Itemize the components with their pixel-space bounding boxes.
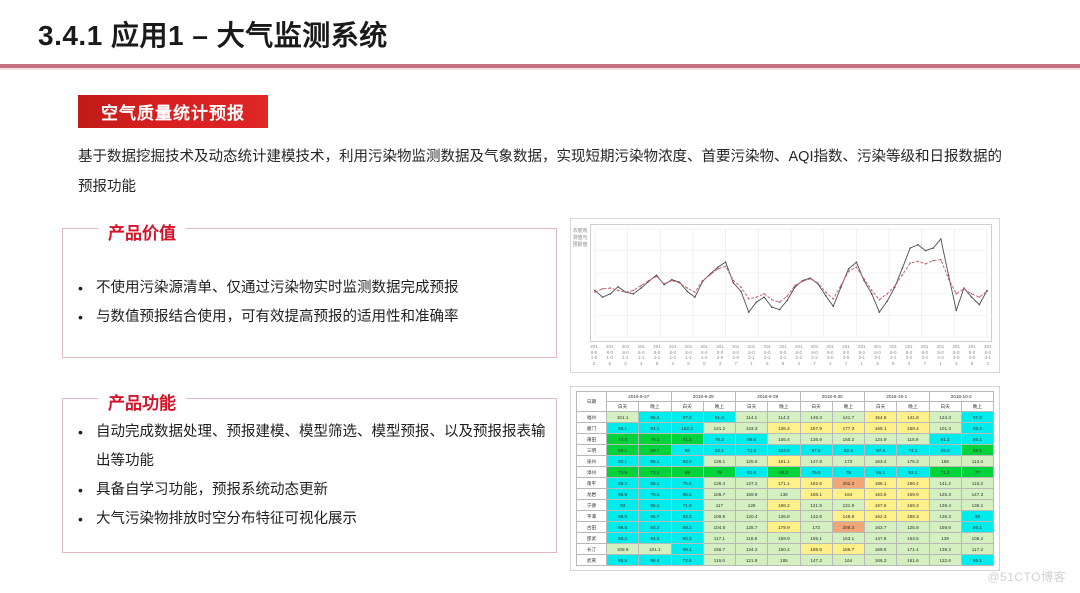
table-cell: 86.2 (671, 489, 703, 500)
table-cell: 142.6 (800, 511, 832, 522)
table-subcolumn-header: 晚上 (832, 402, 864, 412)
forecast-table: 日期2018-9-272018-9-282018-9-292018-9-3020… (576, 391, 994, 566)
chart-x-tick: 2018-04-08 (968, 344, 976, 372)
table-cell: 98.1 (671, 544, 703, 555)
table-cell: 68.2 (768, 467, 800, 478)
list-item: • 与数值预报结合使用，可有效提高预报的适用性和准确率 (78, 303, 548, 332)
table-cell: 92.1 (703, 445, 735, 456)
table-row-city: 厦门 (577, 423, 607, 434)
table-subcolumn-header: 白天 (671, 402, 703, 412)
table-cell: 108.8 (703, 511, 735, 522)
title-divider-soft (0, 68, 1080, 70)
table-cell: 147.2 (800, 555, 832, 566)
table-row: 平潭98.595.792.3108.8120.4136.8142.6148.81… (577, 511, 994, 522)
table-cell: 71.3 (671, 434, 703, 445)
table-cell: 117 (703, 500, 735, 511)
table-cell: 60.1 (607, 445, 639, 456)
table-head: 日期2018-9-272018-9-282018-9-292018-9-3020… (577, 392, 994, 412)
list-item: • 自动完成数据处理、预报建模、模型筛选、模型预报、以及预报报表输出等功能 (78, 418, 548, 476)
table-cell: 139.4 (929, 500, 961, 511)
table-cell: 208.3 (832, 522, 864, 533)
chart-x-tick: 2018-03-31 (937, 344, 945, 372)
table-corner-label: 日期 (577, 392, 607, 412)
chart-x-tick: 2018-03-23 (905, 344, 913, 372)
table-cell: 188.3 (897, 511, 929, 522)
table-cell: 86.6 (736, 434, 768, 445)
table-cell: 171.1 (768, 478, 800, 489)
table-cell: 102.2 (671, 423, 703, 434)
table-cell: 150.4 (768, 544, 800, 555)
panel-product-value-bullets: • 不使用污染源清单、仅通过污染物实时监测数据完成预报 • 与数值预报结合使用，… (78, 274, 548, 332)
table-header-dates: 日期2018-9-272018-9-282018-9-292018-9-3020… (577, 392, 994, 402)
table-cell: 147.3 (961, 489, 993, 500)
list-item: • 大气污染物排放时空分布特征可视化展示 (78, 505, 548, 534)
table-cell: 131.9 (832, 500, 864, 511)
chart-x-tick: 2018-03-19 (889, 344, 897, 372)
chart-x-tick: 2018-03-15 (874, 344, 882, 372)
table-cell: 163.8 (865, 489, 897, 500)
table-cell: 121.9 (800, 500, 832, 511)
chart-y-axis-label: 浓度观测值与预报值 (572, 228, 588, 356)
table-row: 邵武93.294.395.3117.1118.8159.9155.1153.11… (577, 533, 994, 544)
chart-x-tick: 2018-03-07 (842, 344, 850, 372)
table-row: 莆田73.578.171.375.386.6106.4136.9150.2124… (577, 434, 994, 445)
chart-plot-area (590, 224, 992, 342)
chart-x-tick: 2018-01-06 (606, 344, 614, 372)
table-cell: 92.3 (671, 511, 703, 522)
table-cell: 93 (607, 500, 639, 511)
table-cell: 114.1 (736, 412, 768, 423)
table-row-city: 南平 (577, 478, 607, 489)
table-cell: 101.3 (929, 423, 961, 434)
list-item: • 不使用污染源清单、仅通过污染物实时监测数据完成预报 (78, 274, 548, 303)
chart-svg (591, 225, 991, 341)
table-cell: 97.5 (800, 445, 832, 456)
table-cell: 95.7 (639, 511, 671, 522)
table-cell: 121.2 (703, 423, 735, 434)
bullet-marker-icon: • (78, 303, 96, 332)
table-cell: 73.5 (607, 467, 639, 478)
table-cell: 150.2 (832, 434, 864, 445)
page-title: 3.4.1 应用1 – 大气监测系统 (38, 14, 388, 54)
table-cell: 182.6 (800, 478, 832, 489)
table-cell: 95.4 (639, 412, 671, 423)
table-cell: 139.3 (929, 544, 961, 555)
chart-x-tick: 2018-02-07 (732, 344, 740, 372)
table-cell: 72.1 (639, 467, 671, 478)
table-header-subcolumns: 白天晚上白天晚上白天晚上白天晚上白天晚上白天晚上 (577, 402, 994, 412)
table-cell: 108.2 (961, 533, 993, 544)
table-cell: 136.8 (768, 511, 800, 522)
table-cell: 147.8 (865, 533, 897, 544)
table-cell: 188.6 (800, 544, 832, 555)
bullet-marker-icon: • (78, 274, 96, 303)
table-row: 武夷95.596.472.6116.6121.8185147.2164166.3… (577, 555, 994, 566)
table-cell: 163.7 (865, 522, 897, 533)
table-cell: 108.9 (607, 544, 639, 555)
table-cell: 186.7 (832, 544, 864, 555)
table-date-group-header: 2018-10-1 (865, 392, 930, 402)
table-cell: 85.1 (639, 478, 671, 489)
list-item-text: 大气污染物排放时空分布特征可视化展示 (96, 505, 548, 534)
bullet-marker-icon: • (78, 505, 96, 534)
table-cell: 166.3 (865, 555, 897, 566)
table-cell: 97.4 (865, 445, 897, 456)
table-cell: 99 (671, 445, 703, 456)
table-subcolumn-header: 白天 (800, 402, 832, 412)
table-cell: 72.6 (671, 555, 703, 566)
table-cell: 96.5 (607, 522, 639, 533)
table-body: 福州101.195.497.391.4114.1114.3146.3141.71… (577, 412, 994, 566)
table-cell: 78.1 (639, 489, 671, 500)
table-cell: 86.1 (639, 500, 671, 511)
table-cell: 124.9 (865, 434, 897, 445)
table-cell: 167.6 (865, 500, 897, 511)
table-cell: 120.4 (736, 511, 768, 522)
table-cell: 177.3 (832, 423, 864, 434)
table-cell: 124.3 (929, 412, 961, 423)
table-cell: 106.4 (768, 434, 800, 445)
table-cell: 86.1 (961, 555, 993, 566)
table-cell: 116.6 (703, 555, 735, 566)
table-cell: 114.3 (768, 412, 800, 423)
intro-paragraph: 基于数据挖掘技术及动态统计建模技术，利用污染物监测数据及气象数据，实现短期污染物… (78, 142, 1008, 202)
table-cell: 154.8 (865, 412, 897, 423)
table-cell: 179.9 (768, 522, 800, 533)
table-cell: 97.3 (671, 412, 703, 423)
table-cell: 104.5 (703, 522, 735, 533)
table-cell: 104.6 (768, 445, 800, 456)
chart-x-axis: 2018-01-022018-01-062018-01-102018-01-14… (590, 344, 992, 372)
table-cell: 171.4 (897, 544, 929, 555)
table-row-city: 莆田 (577, 434, 607, 445)
table-cell: 73.5 (607, 434, 639, 445)
table-cell: 156 (929, 456, 961, 467)
table-row-city: 古田 (577, 522, 607, 533)
table-row-city: 三明 (577, 445, 607, 456)
table-cell: 173 (800, 522, 832, 533)
chart-x-tick: 2018-01-02 (590, 344, 598, 372)
table-cell: 92.1 (607, 456, 639, 467)
table-cell: 136.1 (703, 456, 735, 467)
table-cell: 97.3 (961, 412, 993, 423)
table-cell: 136.1 (961, 500, 993, 511)
table-cell: 78.1 (639, 434, 671, 445)
table-row: 龙岩96.978.186.2106.7159.9138188.1164163.8… (577, 489, 994, 500)
table-cell: 128.4 (703, 478, 735, 489)
table-cell: 137.2 (736, 478, 768, 489)
list-item-text: 与数值预报结合使用，可有效提高预报的适用性和准确率 (96, 303, 548, 332)
chart-x-tick: 2018-01-18 (653, 344, 661, 372)
table-cell: 98.5 (607, 511, 639, 522)
table-row: 南平96.285.175.6128.4137.2171.1182.6202.31… (577, 478, 994, 489)
table-subcolumn-header: 晚上 (703, 402, 735, 412)
table-row-city: 福州 (577, 412, 607, 423)
table-cell: 86.1 (639, 456, 671, 467)
table-subcolumn-header: 白天 (865, 402, 897, 412)
table-row: 漳州73.572.1897961.668.276.57865.192.171.2… (577, 467, 994, 478)
table-row: 福州101.195.497.391.4114.1114.3146.3141.71… (577, 412, 994, 423)
table-cell: 185 (768, 555, 800, 566)
table-subcolumn-header: 白天 (607, 402, 639, 412)
table-cell: 141.8 (897, 412, 929, 423)
table-cell: 75.6 (671, 478, 703, 489)
table-cell: 78 (832, 467, 864, 478)
panel-product-function-bullets: • 自动完成数据处理、预报建模、模型筛选、模型预报、以及预报报表输出等功能 • … (78, 418, 548, 534)
table-cell: 95.3 (671, 533, 703, 544)
table-row-city: 平潭 (577, 511, 607, 522)
table-cell: 71.9 (671, 500, 703, 511)
table-cell: 169.8 (865, 544, 897, 555)
table-cell: 159.9 (768, 533, 800, 544)
table-date-group-header: 2018-9-29 (736, 392, 801, 402)
table-cell: 161.6 (897, 555, 929, 566)
table-cell: 106.7 (703, 489, 735, 500)
chart-x-tick: 2018-02-11 (748, 344, 756, 372)
section-badge-label: 空气质量统计预报 (101, 99, 245, 124)
chart-x-tick: 2018-01-26 (685, 344, 693, 372)
table-cell: 93.2 (607, 533, 639, 544)
table-cell: 153.1 (832, 533, 864, 544)
table-cell: 164 (832, 555, 864, 566)
table-cell: 155.1 (800, 533, 832, 544)
table-cell: 116.3 (961, 478, 993, 489)
table-cell: 125.6 (736, 456, 768, 467)
table-subcolumn-header: 晚上 (768, 402, 800, 412)
table-cell: 157.9 (800, 423, 832, 434)
table-cell: 86.1 (961, 522, 993, 533)
list-item-text: 不使用污染源清单、仅通过污染物实时监测数据完成预报 (96, 274, 548, 303)
table-cell: 129 (736, 500, 768, 511)
table-cell: 121.8 (736, 555, 768, 566)
table-cell: 86.4 (961, 423, 993, 434)
chart-x-tick: 2018-04-04 (952, 344, 960, 372)
table-row: 厦门95.194.1102.2121.2133.3136.4157.9177.3… (577, 423, 994, 434)
table-cell: 115.9 (897, 434, 929, 445)
table-cell: 122.6 (929, 555, 961, 566)
table-cell: 169.3 (897, 500, 929, 511)
table-cell: 156.7 (703, 544, 735, 555)
table-cell: 125.8 (897, 522, 929, 533)
table-cell: 163.5 (897, 533, 929, 544)
table-cell: 125.3 (929, 489, 961, 500)
table-cell: 159.6 (929, 522, 961, 533)
table-cell: 113.4 (961, 456, 993, 467)
table-cell: 79 (703, 467, 735, 478)
table-cell: 71.6 (736, 445, 768, 456)
table-cell: 76.5 (800, 467, 832, 478)
table-row: 宁德9386.171.9117129198.2121.9131.9167.616… (577, 500, 994, 511)
table-cell: 162.3 (865, 511, 897, 522)
table-cell: 146.3 (800, 412, 832, 423)
table-row-city: 龙岩 (577, 489, 607, 500)
table-cell: 163.4 (865, 456, 897, 467)
table-subcolumn-header: 晚上 (897, 402, 929, 412)
table-cell: 168.4 (897, 423, 929, 434)
table-cell: 75.3 (703, 434, 735, 445)
table-cell: 148.8 (832, 511, 864, 522)
table-cell: 141.2 (929, 478, 961, 489)
table-cell: 161.1 (768, 456, 800, 467)
bullet-marker-icon: • (78, 418, 96, 447)
table-cell: 71.2 (929, 467, 961, 478)
table-cell: 93.2 (639, 522, 671, 533)
table-cell: 96.2 (607, 478, 639, 489)
table-date-group-header: 2018-10-2 (929, 392, 994, 402)
table-cell: 188.1 (800, 489, 832, 500)
table-date-group-header: 2018-9-28 (671, 392, 736, 402)
table-row-city: 泉州 (577, 456, 607, 467)
table-row-city: 邵武 (577, 533, 607, 544)
table-cell: 65.1 (865, 467, 897, 478)
list-item-text: 自动完成数据处理、预报建模、模型筛选、模型预报、以及预报报表输出等功能 (96, 418, 548, 476)
table-cell: 136.3 (929, 511, 961, 522)
table-cell: 95.1 (607, 423, 639, 434)
table-cell: 101.1 (607, 412, 639, 423)
table-cell: 133.3 (736, 423, 768, 434)
table-row: 长汀108.9101.198.1156.7134.2150.4188.6186.… (577, 544, 994, 555)
table-subcolumn-header: 白天 (736, 402, 768, 412)
table-cell: 61.6 (736, 467, 768, 478)
table-cell: 139 (929, 533, 961, 544)
chart-x-tick: 2018-01-10 (622, 344, 630, 372)
chart-x-tick: 2018-02-19 (779, 344, 787, 372)
bullet-marker-icon: • (78, 476, 96, 505)
chart-x-tick: 2018-03-11 (858, 344, 866, 372)
table-cell: 88.2 (671, 522, 703, 533)
section-badge: 空气质量统计预报 (78, 95, 268, 128)
table-cell: 92.8 (671, 456, 703, 467)
table-cell: 173 (832, 456, 864, 467)
table-row-city: 漳州 (577, 467, 607, 478)
panel-product-function-label: 产品功能 (98, 389, 186, 414)
table-row: 古田96.593.288.2104.5128.7179.9173208.3163… (577, 522, 994, 533)
table-cell: 117.3 (961, 544, 993, 555)
table-cell: 164 (832, 489, 864, 500)
table-cell: 136.4 (768, 423, 800, 434)
table-cell: 91.3 (929, 434, 961, 445)
table-cell: 82.4 (832, 445, 864, 456)
table-cell: 136.9 (800, 434, 832, 445)
table-cell: 141.7 (832, 412, 864, 423)
table-cell: 198.2 (768, 500, 800, 511)
table-cell: 69.7 (639, 445, 671, 456)
table-cell: 147.8 (800, 456, 832, 467)
table-cell: 66.1 (961, 445, 993, 456)
table-row: 泉州92.186.192.8136.1125.6161.1147.8173163… (577, 456, 994, 467)
chart-x-tick: 2018-03-27 (921, 344, 929, 372)
table-cell: 96.4 (639, 555, 671, 566)
table-cell: 196.4 (897, 478, 929, 489)
chart-x-tick: 2018-01-22 (669, 344, 677, 372)
table-cell: 94.1 (639, 423, 671, 434)
table-cell: 89 (671, 467, 703, 478)
table-cell: 169.9 (897, 489, 929, 500)
table-row-city: 长汀 (577, 544, 607, 555)
table-cell: 138 (768, 489, 800, 500)
table-cell: 101.1 (639, 544, 671, 555)
table-cell: 95.5 (607, 555, 639, 566)
table-row-city: 宁德 (577, 500, 607, 511)
table-row: 三明60.169.79992.171.6104.697.582.497.474.… (577, 445, 994, 456)
list-item-text: 具备自学习功能，预报系统动态更新 (96, 476, 548, 505)
table-cell: 85.1 (961, 434, 993, 445)
table-date-group-header: 2018-9-27 (607, 392, 672, 402)
table-subcolumn-header: 白天 (929, 402, 961, 412)
chart-x-tick: 2018-02-03 (716, 344, 724, 372)
chart-x-tick: 2018-02-15 (763, 344, 771, 372)
forecast-table-card: 日期2018-9-272018-9-282018-9-292018-9-3020… (570, 386, 1000, 571)
table-cell: 159.9 (736, 489, 768, 500)
table-cell: 98 (961, 511, 993, 522)
table-cell: 134.2 (736, 544, 768, 555)
table-cell: 118.8 (736, 533, 768, 544)
panel-product-value-label: 产品价值 (98, 219, 186, 244)
table-cell: 91.4 (703, 412, 735, 423)
table-cell: 96.9 (607, 489, 639, 500)
list-item: • 具备自学习功能，预报系统动态更新 (78, 476, 548, 505)
chart-x-tick: 2018-04-12 (984, 344, 992, 372)
watermark: @51CTO博客 (987, 568, 1066, 585)
chart-x-tick: 2018-02-27 (811, 344, 819, 372)
table-cell: 55.9 (929, 445, 961, 456)
table-cell: 186.1 (865, 478, 897, 489)
table-cell: 202.3 (832, 478, 864, 489)
table-cell: 74.1 (897, 445, 929, 456)
chart-x-tick: 2018-01-14 (637, 344, 645, 372)
table-cell: 168.1 (865, 423, 897, 434)
table-date-group-header: 2018-9-30 (800, 392, 865, 402)
table-subcolumn-header: 晚上 (639, 402, 671, 412)
table-cell: 117.1 (703, 533, 735, 544)
table-cell: 175.3 (897, 456, 929, 467)
chart-x-tick: 2018-03-03 (826, 344, 834, 372)
table-cell: 77 (961, 467, 993, 478)
table-row-city: 武夷 (577, 555, 607, 566)
table-cell: 92.1 (897, 467, 929, 478)
table-subcolumn-header: 晚上 (961, 402, 993, 412)
chart-x-tick: 2018-01-30 (700, 344, 708, 372)
chart-x-tick: 2018-02-23 (795, 344, 803, 372)
table-cell: 94.3 (639, 533, 671, 544)
table-cell: 128.7 (736, 522, 768, 533)
